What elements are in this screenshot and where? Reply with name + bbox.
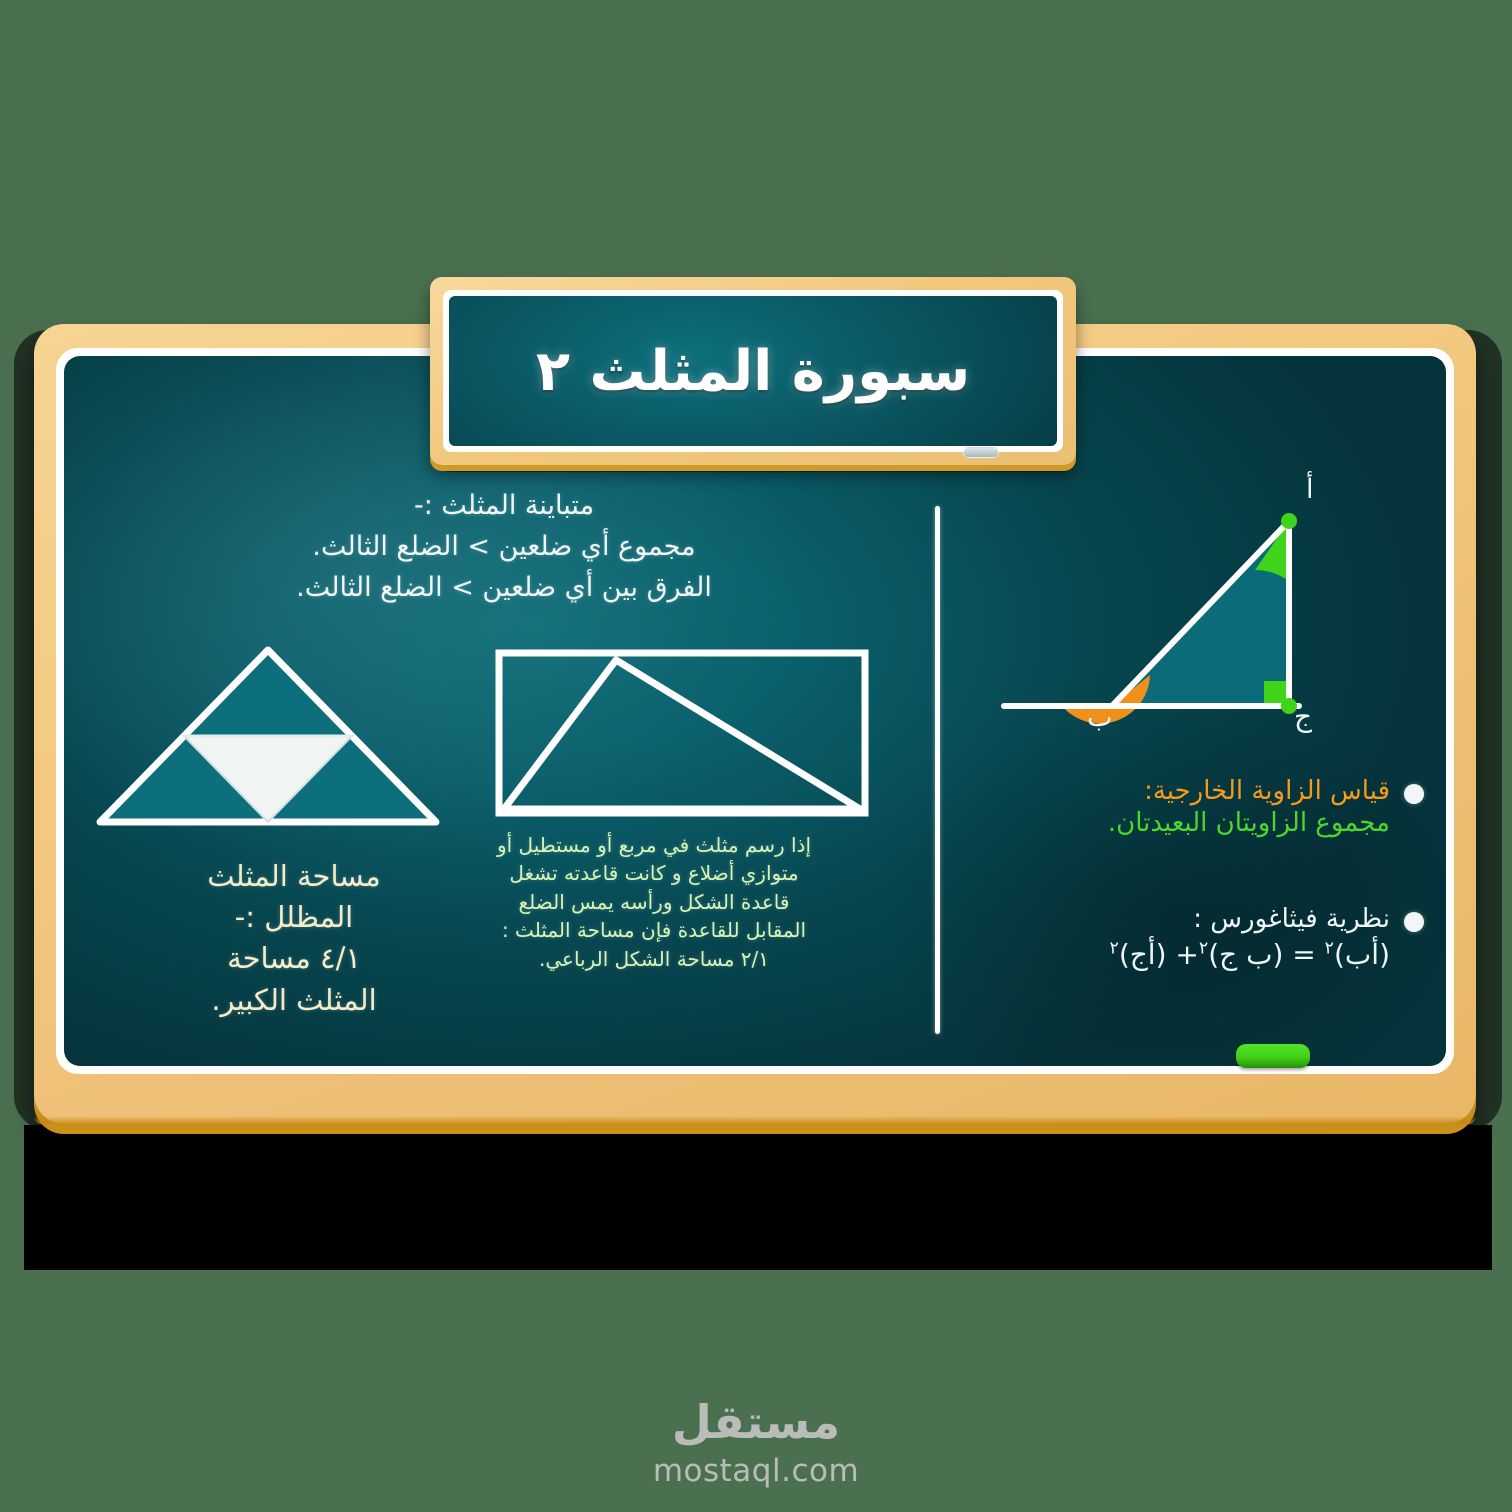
shaded-caption-line-3: ٤/١ مساحة [144,938,444,979]
formula-plus: + [1167,938,1199,971]
inequality-line-1: مجموع أي ضلعين > الضلع الثالث. [184,527,824,566]
rectangle-outline [499,653,865,813]
board-floor-shadow [24,1125,1492,1270]
triangle-inequality-block: متباينة المثلث :- مجموع أي ضلعين > الضلع… [184,486,824,609]
formula-exp-1: ٢ [1325,939,1334,959]
shaded-caption-line-2: المظلل :- [144,897,444,938]
formula-bc: (ب ج) [1208,938,1283,971]
formula-exp-3: ٢ [1109,939,1118,959]
bullet-dot-icon [1404,784,1424,804]
vertex-a-dot [1281,513,1297,529]
watermark: مستقل mostaql.com [0,1395,1512,1489]
inequality-line-2: الفرق بين أي ضلعين > الضلع الثالث. [184,568,824,607]
title-board-surface: سبورة المثلث ٢ [449,296,1057,446]
page-title: سبورة المثلث ٢ [536,339,970,404]
vertex-label-b: ب [1087,702,1112,733]
shaded-triangle-figure [88,636,448,840]
green-chalk-stick[interactable] [1236,1044,1310,1068]
formula-ab: (أب) [1334,938,1390,971]
eraser-icon[interactable] [963,447,999,458]
inequality-heading: متباينة المثلث :- [184,486,824,525]
bullet-exterior-angle: قياس الزاوية الخارجية: مجموع الزاويتان ا… [1024,776,1424,838]
rectangle-triangle-caption: إذا رسم مثلث في مربع أو مستطيل أو متوازي… [489,831,819,973]
bullet-dot-icon [1404,912,1424,932]
pythagoras-title: نظرية فيثاغورس : [1109,904,1390,934]
formula-equals: = [1283,938,1324,971]
exterior-angle-title: قياس الزاوية الخارجية: [1108,776,1390,806]
vertex-label-c: ج [1294,700,1312,733]
formula-exp-2: ٢ [1199,939,1208,959]
vertex-label-a: أ [1306,474,1314,505]
shaded-triangle-caption: مساحة المثلث المظلل :- ٤/١ مساحة المثلث … [144,856,444,1021]
exterior-angle-rule: مجموع الزاويتان البعيدتان. [1108,808,1390,838]
formula-ac: (أج) [1119,938,1167,971]
watermark-domain: mostaql.com [653,1453,859,1489]
vertical-divider [935,506,940,1034]
rectangle-triangle-figure [492,646,872,825]
exterior-angle-figure: أ ب ج [964,476,1364,770]
watermark-arabic-logo: مستقل [672,1395,840,1449]
inscribed-triangle [504,660,860,809]
screenshot-stage: سبورة المثلث ٢ متباينة المثلث :- مجموع أ… [0,0,1512,1512]
pythagoras-formula: (أب)٢ = (ب ج)٢+ (أج)٢ [1109,938,1390,971]
bullet-pythagoras: نظرية فيثاغورس : (أب)٢ = (ب ج)٢+ (أج)٢ [1024,904,1424,971]
shaded-caption-line-1: مساحة المثلث [144,856,444,897]
shaded-caption-line-4: المثلث الكبير. [144,980,444,1021]
